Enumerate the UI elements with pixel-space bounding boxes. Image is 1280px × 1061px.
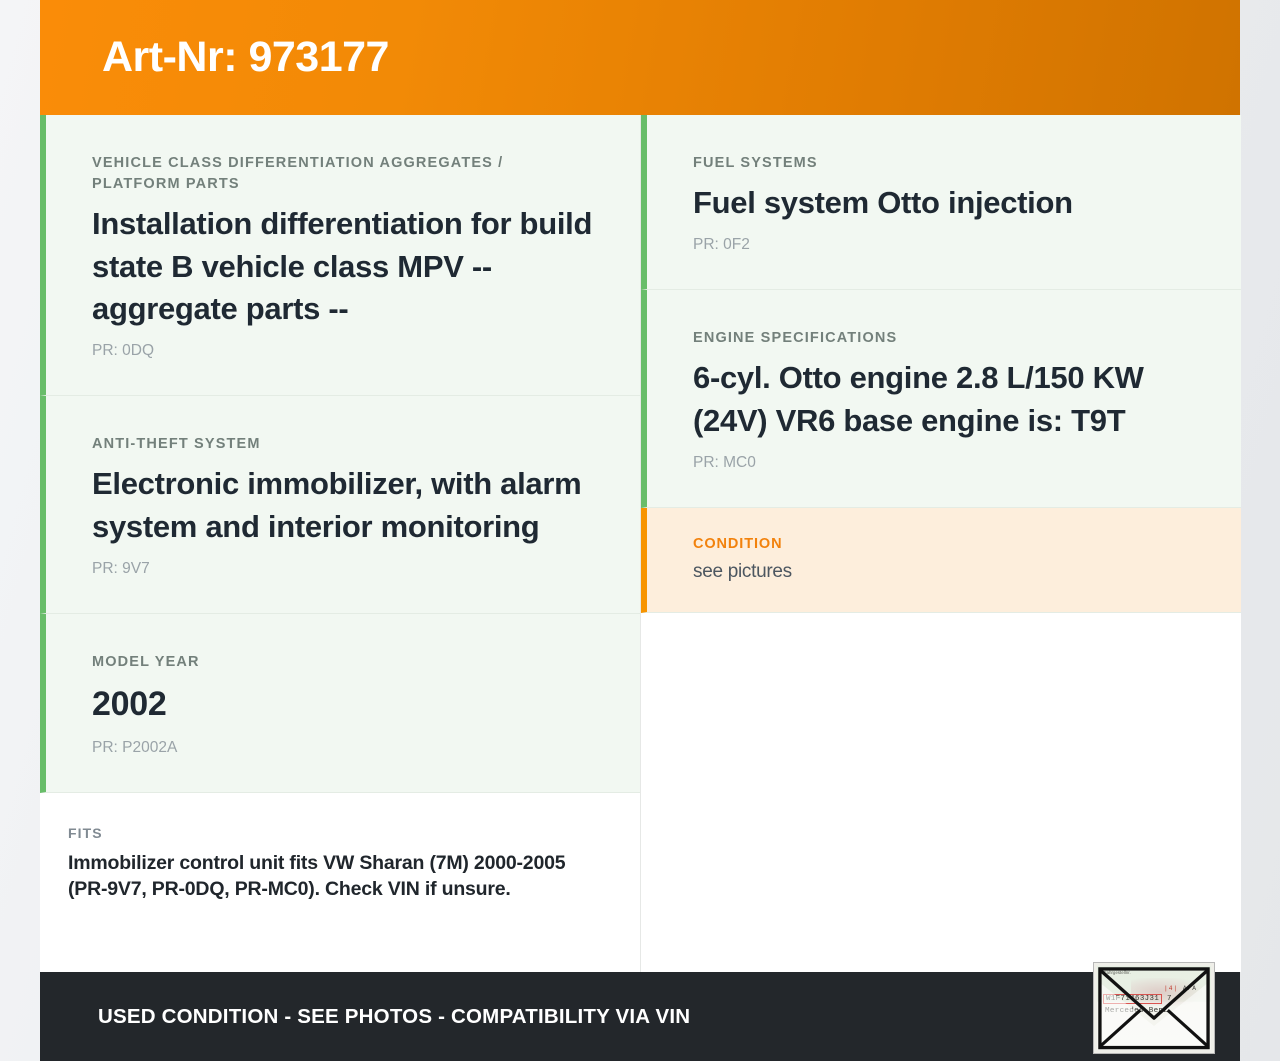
condition-value: see pictures: [693, 560, 1195, 585]
spec-label: ENGINE SPECIFICATIONS: [693, 328, 1195, 349]
spec-column-right: FUEL SYSTEMS Fuel system Otto injection …: [641, 115, 1241, 972]
thumbnail-vin-row: W1F71463J31 7: [1103, 994, 1207, 1004]
page-title: Art-Nr: 973177: [102, 36, 389, 79]
spec-card-engine: ENGINE SPECIFICATIONS 6-cyl. Otto engine…: [641, 290, 1241, 508]
spec-label: ANTI-THEFT SYSTEM: [92, 434, 594, 455]
stamp-text: A/A: [1183, 985, 1197, 992]
spec-card-model-year: MODEL YEAR 2002 PR: P2002A: [40, 614, 640, 793]
stamp-mark: |4|: [1164, 985, 1178, 992]
spec-value: 2002: [92, 681, 594, 728]
fits-label: FITS: [68, 825, 594, 841]
fits-section: FITS Immobilizer control unit fits VW Sh…: [40, 793, 640, 932]
left-column-filler: [40, 932, 640, 972]
spec-value: Fuel system Otto injection: [693, 182, 1195, 224]
spec-pr-code: PR: 0F2: [693, 236, 1195, 255]
spec-label: VEHICLE CLASS DIFFERENTIATION AGGREGATES…: [92, 153, 594, 195]
right-column-filler: [641, 613, 1241, 972]
vin-document-scan: Fahrgestellnr. |4| A/A W1F71463J31 7 Mer…: [1097, 966, 1211, 1050]
spec-card-fuel-system: FUEL SYSTEMS Fuel system Otto injection …: [641, 115, 1241, 290]
footer-banner-text: USED CONDITION - SEE PHOTOS - COMPATIBIL…: [98, 1005, 690, 1029]
spec-pr-code: PR: 0DQ: [92, 342, 594, 361]
spec-card-platform-parts: VEHICLE CLASS DIFFERENTIATION AGGREGATES…: [40, 115, 640, 396]
spec-value: Installation differentiation for build s…: [92, 203, 594, 330]
spec-label: FUEL SYSTEMS: [693, 153, 1195, 174]
spec-column-left: VEHICLE CLASS DIFFERENTIATION AGGREGATES…: [40, 115, 641, 972]
thumbnail-brand: Mercedes-Benz: [1105, 1007, 1168, 1015]
condition-card: CONDITION see pictures: [641, 508, 1241, 614]
vin-document-thumbnail[interactable]: Fahrgestellnr. |4| A/A W1F71463J31 7 Mer…: [1093, 962, 1215, 1054]
page-header: Art-Nr: 973177: [40, 0, 1240, 115]
thumbnail-caption: Fahrgestellnr.: [1104, 970, 1131, 975]
condition-label: CONDITION: [693, 534, 1195, 555]
thumbnail-stamp: |4| A/A: [1164, 985, 1197, 992]
fits-text: Immobilizer control unit fits VW Sharan …: [68, 851, 594, 902]
spec-pr-code: PR: MC0: [693, 454, 1195, 473]
spec-value: 6-cyl. Otto engine 2.8 L/150 KW (24V) VR…: [693, 357, 1195, 442]
spec-grid: VEHICLE CLASS DIFFERENTIATION AGGREGATES…: [40, 115, 1240, 972]
vin-tail: 7: [1167, 995, 1172, 1003]
spec-value: Electronic immobilizer, with alarm syste…: [92, 463, 594, 548]
listing-page: Art-Nr: 973177 VEHICLE CLASS DIFFERENTIA…: [40, 0, 1240, 1061]
spec-pr-code: PR: 9V7: [92, 560, 594, 579]
page-footer: USED CONDITION - SEE PHOTOS - COMPATIBIL…: [40, 972, 1240, 1061]
spec-pr-code: PR: P2002A: [92, 739, 594, 758]
spec-card-anti-theft: ANTI-THEFT SYSTEM Electronic immobilizer…: [40, 396, 640, 614]
vin-highlight-box: W1F71463J31: [1103, 994, 1162, 1004]
spec-label: MODEL YEAR: [92, 652, 594, 673]
